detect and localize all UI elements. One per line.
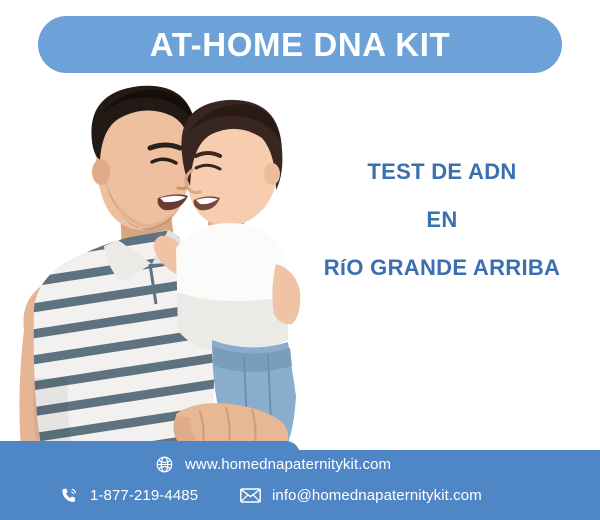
envelope-icon (240, 486, 261, 505)
footer-phone-label: 1-877-219-4485 (90, 488, 198, 503)
page-title: AT-HOME DNA KIT (150, 28, 450, 61)
footer-email-row[interactable]: info@homednapaternitykit.com (240, 486, 482, 505)
footer-email-label: info@homednapaternitykit.com (272, 488, 482, 503)
headline-line-1: TEST DE ADN (296, 160, 588, 183)
poster-canvas: AT-HOME DNA KIT (0, 0, 600, 520)
headline-block: TEST DE ADN EN RíO GRANDE ARRIBA (296, 160, 588, 279)
footer-website-label: www.homednapaternitykit.com (185, 457, 391, 472)
footer-contact-bar: www.homednapaternitykit.com 1-877-219-44… (0, 441, 600, 520)
headline-line-3: RíO GRANDE ARRIBA (296, 256, 588, 279)
globe-icon (155, 455, 174, 474)
family-photo (0, 78, 320, 460)
headline-line-2: EN (296, 208, 588, 231)
footer-phone-row[interactable]: 1-877-219-4485 (60, 486, 198, 505)
header-banner: AT-HOME DNA KIT (38, 16, 562, 73)
phone-icon (60, 486, 79, 505)
footer-website-row[interactable]: www.homednapaternitykit.com (155, 455, 391, 474)
